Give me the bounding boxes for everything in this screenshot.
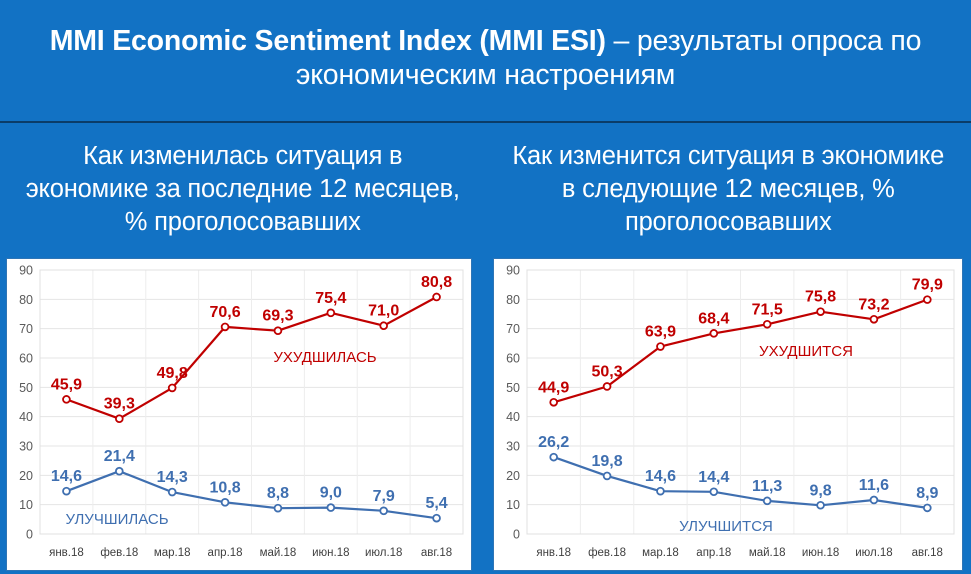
data-label: 19,8 [591,453,622,470]
data-label: 75,8 [805,289,836,306]
x-axis-tick: фев.18 [588,547,626,559]
data-point [604,473,611,480]
data-label: 75,4 [315,290,346,307]
y-axis-tick: 50 [19,381,33,395]
data-point [380,507,387,514]
series-annotation: УЛУЧШИТСЯ [679,518,773,535]
y-axis-tick: 50 [506,381,520,395]
data-point [275,505,282,512]
data-point [63,488,70,495]
data-label: 8,9 [916,485,938,502]
data-point [924,296,931,303]
y-axis-tick: 30 [506,440,520,454]
page-title: MMI Economic Sentiment Index (MMI ESI) –… [12,25,959,92]
chart-plot-past: 0102030405060708090янв.18фев.18мар.18апр… [7,259,471,570]
x-axis-tick: авг.18 [912,547,943,559]
header-divider [0,121,971,123]
x-axis-tick: апр.18 [208,547,243,559]
y-axis-tick: 70 [506,322,520,336]
x-axis-tick: май.18 [260,547,297,559]
data-point [169,385,176,392]
data-label: 68,4 [698,310,729,327]
y-axis-tick: 80 [19,293,33,307]
data-point [327,309,334,316]
y-axis-tick: 40 [506,410,520,424]
x-axis-tick: май.18 [749,547,786,559]
data-label: 70,6 [209,304,240,321]
y-axis-tick: 40 [19,410,33,424]
y-axis-tick: 10 [506,498,520,512]
data-label: 14,3 [157,469,188,486]
x-axis-tick: апр.18 [696,547,731,559]
page-title-bold: MMI Economic Sentiment Index (MMI ESI) [50,25,606,57]
data-point [871,316,878,323]
data-point [817,308,824,315]
chart-panel-past: 0102030405060708090янв.18фев.18мар.18апр… [6,258,472,571]
x-axis-tick: июл.18 [855,547,893,559]
data-point [550,454,557,461]
data-label: 45,9 [51,376,82,393]
x-axis-tick: авг.18 [421,547,452,559]
data-point [63,396,70,403]
data-label: 80,8 [421,274,452,291]
subtitle-right: Как изменится ситуация в экономике в сле… [486,125,971,258]
slide-header: MMI Economic Sentiment Index (MMI ESI) –… [0,0,971,121]
data-label: 14,6 [645,468,676,485]
subtitle-left: Как изменилась ситуация в экономике за п… [0,125,486,258]
data-point [327,504,334,511]
y-axis-tick: 0 [26,528,33,542]
data-label: 11,6 [859,477,889,494]
data-label: 79,9 [912,277,943,294]
y-axis-tick: 80 [506,293,520,307]
series-annotation: УХУДШИТСЯ [759,343,853,360]
data-point [710,488,717,495]
data-point [116,468,123,475]
y-axis-tick: 60 [506,352,520,366]
data-label: 73,2 [858,296,889,313]
data-point [817,502,824,509]
data-point [871,497,878,504]
data-point [275,327,282,334]
data-point [657,488,664,495]
x-axis-tick: июл.18 [365,547,403,559]
data-point [222,499,229,506]
chart-panel-future: 0102030405060708090янв.18фев.18мар.18апр… [493,258,963,571]
y-axis-tick: 20 [506,469,520,483]
data-point [764,321,771,328]
y-axis-tick: 90 [506,264,520,278]
x-axis-tick: мар.18 [642,547,679,559]
data-label: 69,3 [262,308,293,325]
series-annotation: УХУДШИЛАСЬ [273,349,376,366]
x-axis-tick: июн.18 [802,547,839,559]
y-axis-tick: 90 [19,264,33,278]
data-label: 7,9 [373,488,395,505]
data-point [169,489,176,496]
data-label: 71,0 [368,303,399,320]
data-point [604,383,611,390]
data-label: 26,2 [538,434,569,451]
x-axis-tick: мар.18 [154,547,191,559]
data-label: 14,6 [51,468,82,485]
slide-root: MMI Economic Sentiment Index (MMI ESI) –… [0,0,971,574]
data-label: 39,3 [104,396,135,413]
data-label: 63,9 [645,324,676,341]
data-label: 8,8 [267,485,289,502]
data-point [116,415,123,422]
data-point [924,504,931,511]
data-label: 9,0 [320,485,342,502]
data-point [433,294,440,301]
x-axis-tick: янв.18 [536,547,571,559]
data-point [764,497,771,504]
x-axis-tick: июн.18 [312,547,349,559]
data-point [710,330,717,337]
data-label: 50,3 [591,363,622,380]
data-label: 9,8 [809,482,831,499]
data-label: 21,4 [104,448,135,465]
data-label: 11,3 [752,478,782,495]
data-point [380,322,387,329]
data-label: 44,9 [538,379,569,396]
y-axis-tick: 70 [19,322,33,336]
data-label: 14,4 [698,469,729,486]
data-point [222,324,229,331]
y-axis-tick: 20 [19,469,33,483]
data-label: 71,5 [752,301,783,318]
data-label: 5,4 [425,495,447,512]
y-axis-tick: 30 [19,440,33,454]
y-axis-tick: 60 [19,352,33,366]
data-label: 10,8 [209,479,240,496]
x-axis-tick: янв.18 [49,547,84,559]
subtitle-row: Как изменилась ситуация в экономике за п… [0,125,971,258]
subtitle-left-text: Как изменилась ситуация в экономике за п… [22,140,464,239]
x-axis-tick: фев.18 [100,547,138,559]
charts-row: 0102030405060708090янв.18фев.18мар.18апр… [0,258,971,574]
subtitle-right-text: Как изменится ситуация в экономике в сле… [508,140,950,239]
data-point [550,399,557,406]
data-point [433,515,440,522]
y-axis-tick: 10 [19,498,33,512]
chart-plot-future: 0102030405060708090янв.18фев.18мар.18апр… [494,259,962,570]
data-label: 49,8 [157,365,188,382]
data-point [657,343,664,350]
y-axis-tick: 0 [513,528,520,542]
series-annotation: УЛУЧШИЛАСЬ [65,511,168,528]
